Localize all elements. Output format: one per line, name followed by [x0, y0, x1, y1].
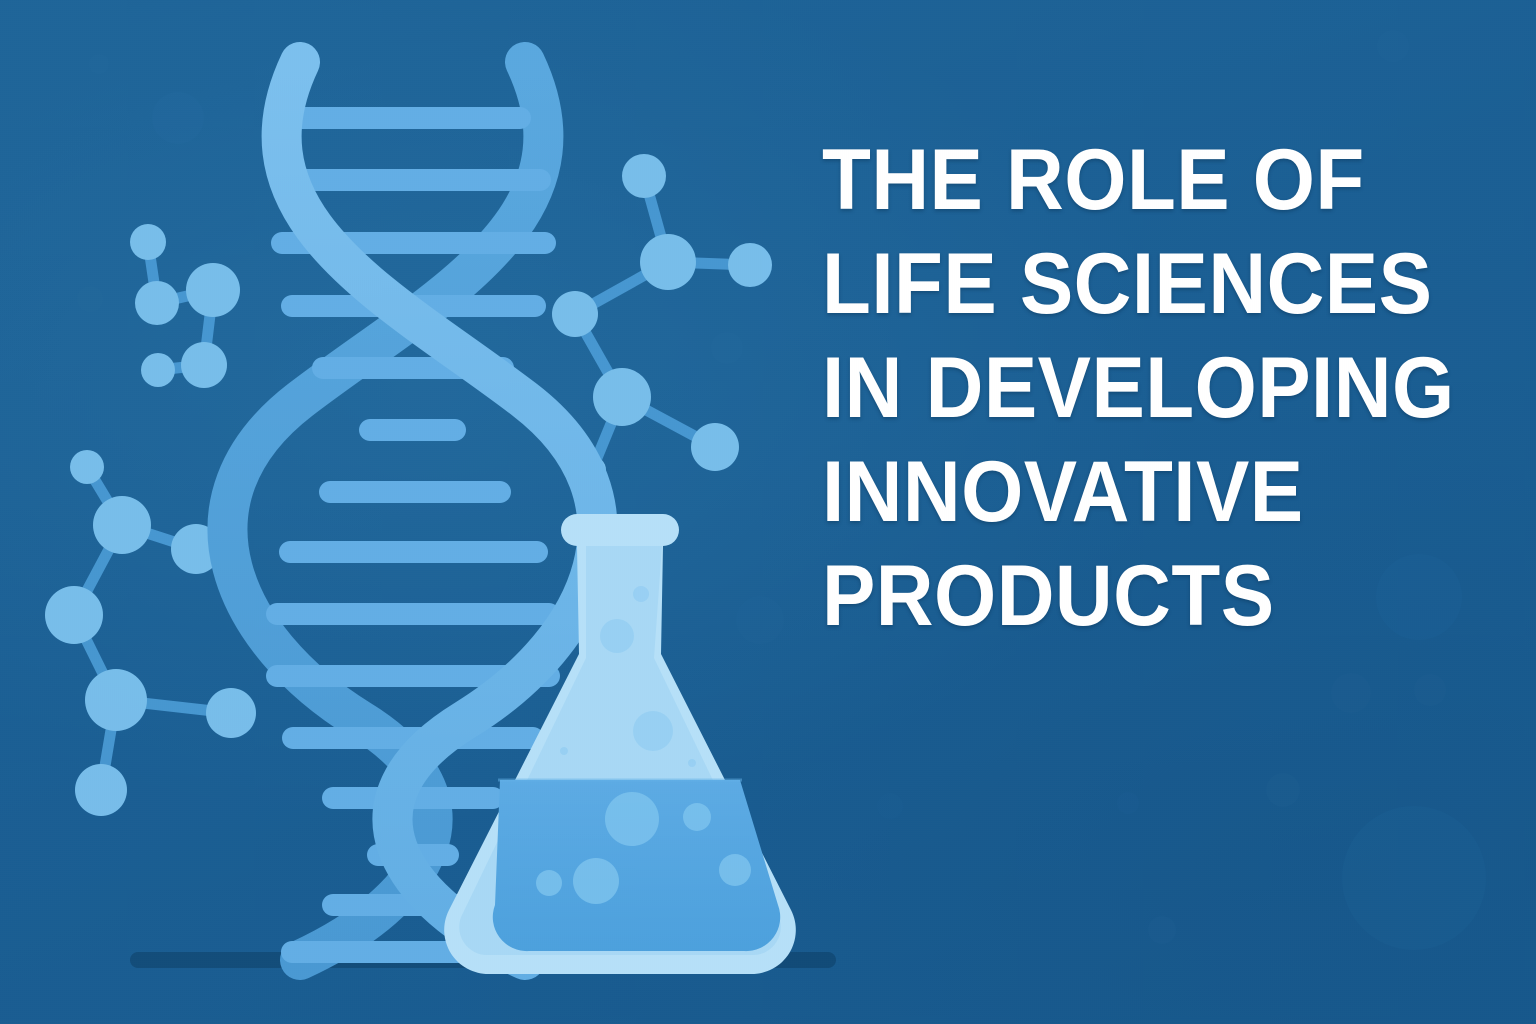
headline-line-2: LIFE SCIENCES: [822, 232, 1436, 336]
headline-line-1: THE ROLE OF: [822, 128, 1436, 232]
headline-line-3: IN DEVELOPING: [822, 336, 1436, 440]
molecule-cluster-upper-left: [130, 224, 240, 388]
headline-line-4: INNOVATIVE: [822, 440, 1436, 544]
page-title: THE ROLE OF LIFE SCIENCES IN DEVELOPING …: [822, 128, 1482, 648]
headline-line-5: PRODUCTS: [822, 544, 1436, 648]
poster-canvas: THE ROLE OF LIFE SCIENCES IN DEVELOPING …: [0, 0, 1536, 1024]
